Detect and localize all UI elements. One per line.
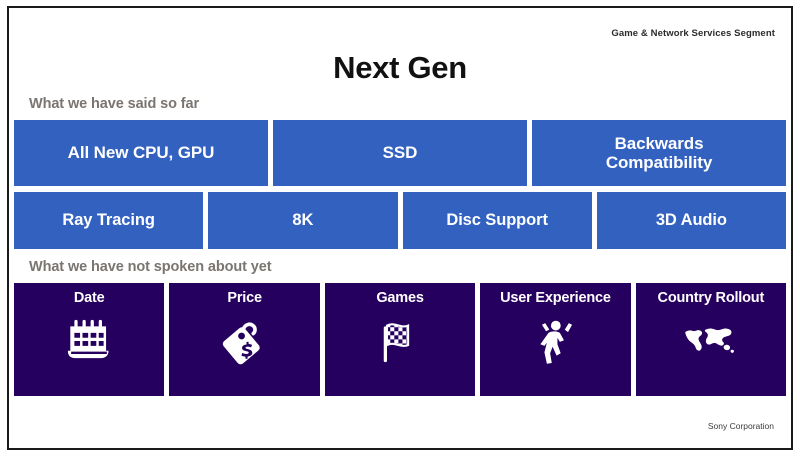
section-heading-not-spoken-yet: What we have not spoken about yet xyxy=(29,259,271,275)
unknown-box-label: Country Rollout xyxy=(658,290,765,306)
feature-box-label-line1: Backwards xyxy=(615,134,704,153)
feature-box-3d-audio[interactable]: 3D Audio xyxy=(597,192,786,249)
feature-box-ray-tracing[interactable]: Ray Tracing xyxy=(14,192,203,249)
slide-canvas: Game & Network Services Segment Next Gen… xyxy=(0,0,800,456)
section-heading-said-so-far: What we have said so far xyxy=(29,96,199,112)
feature-box-label: Disc Support xyxy=(446,211,547,229)
unknown-box-label: User Experience xyxy=(500,290,611,306)
feature-box-backwards-compatibility[interactable]: Backwards Compatibility xyxy=(532,120,786,186)
world-map-icon xyxy=(683,313,739,369)
segment-label: Game & Network Services Segment xyxy=(611,28,775,39)
checkered-flag-icon xyxy=(372,313,428,369)
feature-row-2: Ray Tracing 8K Disc Support 3D Audio xyxy=(9,192,791,249)
jumping-person-icon xyxy=(527,313,583,369)
unknown-box-date[interactable]: Date xyxy=(14,283,164,396)
unknown-items-row: Date xyxy=(9,283,791,396)
price-tag-icon xyxy=(217,313,273,369)
feature-row-1: All New CPU, GPU SSD Backwards Compatibi… xyxy=(9,120,791,186)
feature-box-label: 8K xyxy=(292,211,313,229)
feature-box-label: SSD xyxy=(383,143,418,162)
footer-copyright: Sony Corporation xyxy=(708,421,774,431)
unknown-box-user-experience[interactable]: User Experience xyxy=(480,283,630,396)
feature-box-ssd[interactable]: SSD xyxy=(273,120,527,186)
feature-box-label: 3D Audio xyxy=(656,211,727,229)
feature-box-label: Ray Tracing xyxy=(62,211,154,229)
feature-box-label: All New CPU, GPU xyxy=(68,143,215,162)
unknown-box-price[interactable]: Price xyxy=(169,283,319,396)
slide-frame: Game & Network Services Segment Next Gen… xyxy=(7,6,793,450)
unknown-box-label: Price xyxy=(227,290,261,306)
feature-box-cpu-gpu[interactable]: All New CPU, GPU xyxy=(14,120,268,186)
unknown-box-label: Date xyxy=(74,290,105,306)
page-title: Next Gen xyxy=(9,50,791,86)
feature-box-disc-support[interactable]: Disc Support xyxy=(403,192,592,249)
unknown-box-games[interactable]: Games xyxy=(325,283,475,396)
unknown-box-label: Games xyxy=(376,290,423,306)
feature-box-label-multiline: Backwards Compatibility xyxy=(606,134,712,172)
feature-box-label-line2: Compatibility xyxy=(606,153,712,172)
calendar-icon xyxy=(61,313,117,369)
unknown-box-country-rollout[interactable]: Country Rollout xyxy=(636,283,786,396)
feature-box-8k[interactable]: 8K xyxy=(208,192,397,249)
